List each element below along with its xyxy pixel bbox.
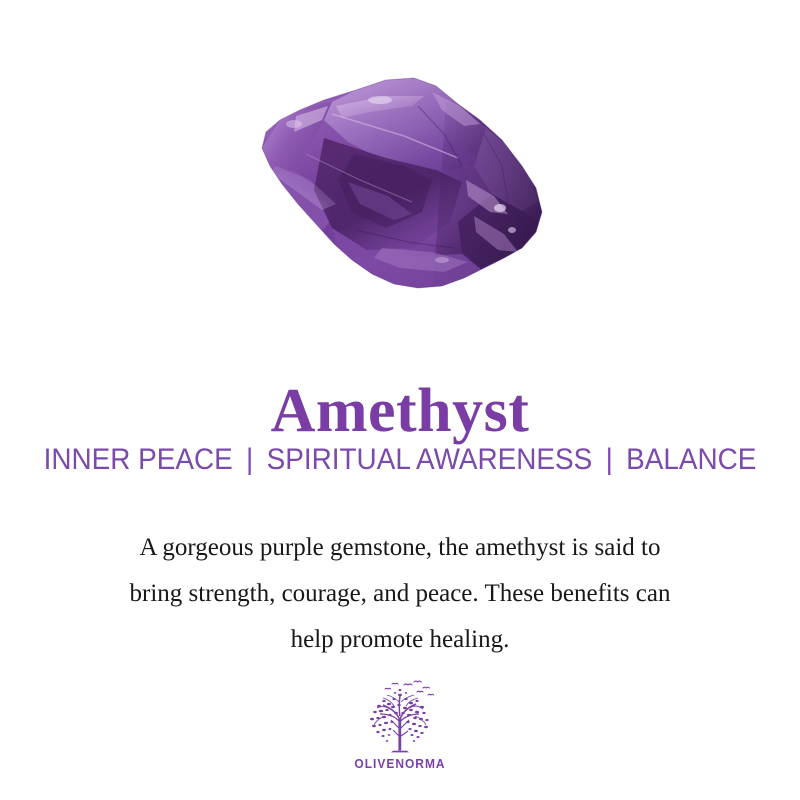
description-text: A gorgeous purple gemstone, the amethyst… [60,525,740,663]
page-title: Amethyst [0,374,800,448]
raw-amethyst-crystal-image [236,62,566,302]
brand-logo: OLIVENORMA [0,676,800,771]
attribute-separator: | [240,441,258,479]
brand-wordmark: OLIVENORMA [32,756,768,771]
crystal-body [236,62,566,302]
attribute-separator: | [600,441,618,479]
birds-icon [385,681,434,695]
description-line: A gorgeous purple gemstone, the amethyst… [60,525,740,571]
attributes-row: INNER PEACE | SPIRITUAL AWARENESS | BALA… [28,441,772,479]
attribute-balance: BALANCE [626,441,756,479]
amethyst-info-card: Amethyst INNER PEACE | SPIRITUAL AWARENE… [0,0,800,800]
hero-image-area [0,0,800,320]
description-line: help promote healing. [60,617,740,663]
attribute-inner-peace: INNER PEACE [44,441,233,479]
tree-of-life-icon [357,676,443,754]
attribute-spiritual-awareness: SPIRITUAL AWARENESS [267,441,593,479]
description-line: bring strength, courage, and peace. Thes… [60,571,740,617]
